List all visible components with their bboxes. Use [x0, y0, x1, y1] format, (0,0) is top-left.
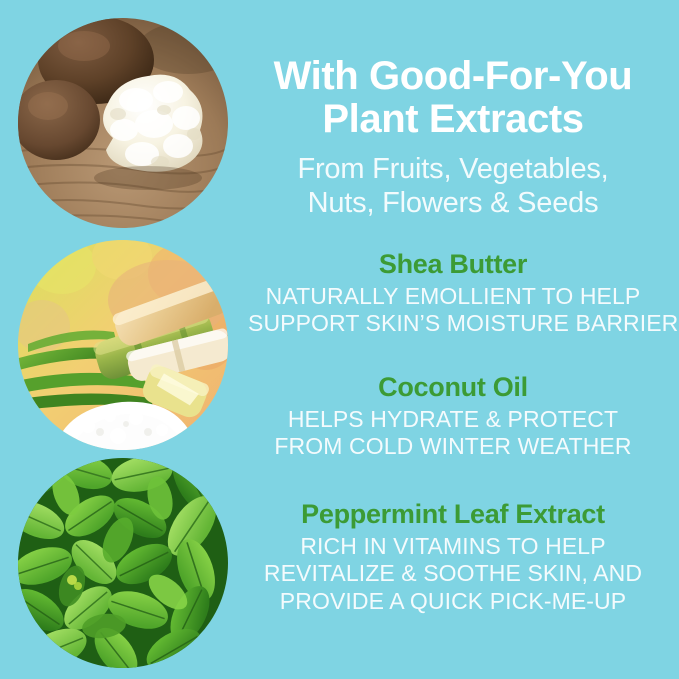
- peppermint-body-line-2: REVITALIZE & SOOTHE SKIN, AND: [248, 560, 658, 588]
- page-subtitle: From Fruits, Vegetables, Nuts, Flowers &…: [248, 152, 658, 220]
- subheadline-line-1: From Fruits, Vegetables,: [248, 152, 658, 186]
- product-benefits-poster: With Good-For-You Plant Extracts From Fr…: [0, 0, 679, 679]
- coconut-body-line-2: FROM COLD WINTER WEATHER: [248, 433, 658, 461]
- ingredient-description-shea-butter: NATURALLY EMOLLIENT TO HELP SUPPORT SKIN…: [248, 283, 658, 338]
- ingredient-description-coconut-oil: HELPS HYDRATE & PROTECT FROM COLD WINTER…: [248, 406, 658, 461]
- ingredient-title-peppermint-leaf-extract: Peppermint Leaf Extract: [248, 500, 658, 530]
- coconut-oil-photo: [18, 240, 228, 450]
- headline-line-1: With Good-For-You: [248, 55, 658, 98]
- coconut-body-line-1: HELPS HYDRATE & PROTECT: [248, 406, 658, 434]
- ingredient-block-coconut-oil: Coconut Oil HELPS HYDRATE & PROTECT FROM…: [248, 373, 658, 461]
- ingredient-title-shea-butter: Shea Butter: [248, 250, 658, 280]
- ingredient-block-shea-butter: Shea Butter NATURALLY EMOLLIENT TO HELP …: [248, 250, 658, 338]
- page-title: With Good-For-You Plant Extracts: [248, 55, 658, 141]
- shea-body-line-1: NATURALLY EMOLLIENT TO HELP: [248, 283, 658, 311]
- shea-butter-photo: [18, 18, 228, 228]
- ingredient-description-peppermint-leaf-extract: RICH IN VITAMINS TO HELP REVITALIZE & SO…: [248, 533, 658, 616]
- ingredient-block-peppermint-leaf-extract: Peppermint Leaf Extract RICH IN VITAMINS…: [248, 500, 658, 615]
- headline-line-2: Plant Extracts: [248, 98, 658, 141]
- subheadline-line-2: Nuts, Flowers & Seeds: [248, 186, 658, 220]
- peppermint-body-line-1: RICH IN VITAMINS TO HELP: [248, 533, 658, 561]
- text-column: With Good-For-You Plant Extracts From Fr…: [248, 0, 658, 679]
- ingredient-title-coconut-oil: Coconut Oil: [248, 373, 658, 403]
- shea-body-line-2: SUPPORT SKIN’S MOISTURE BARRIER: [248, 310, 658, 338]
- peppermint-body-line-3: PROVIDE A QUICK PICK-ME-UP: [248, 588, 658, 616]
- peppermint-leaf-photo: [18, 458, 228, 668]
